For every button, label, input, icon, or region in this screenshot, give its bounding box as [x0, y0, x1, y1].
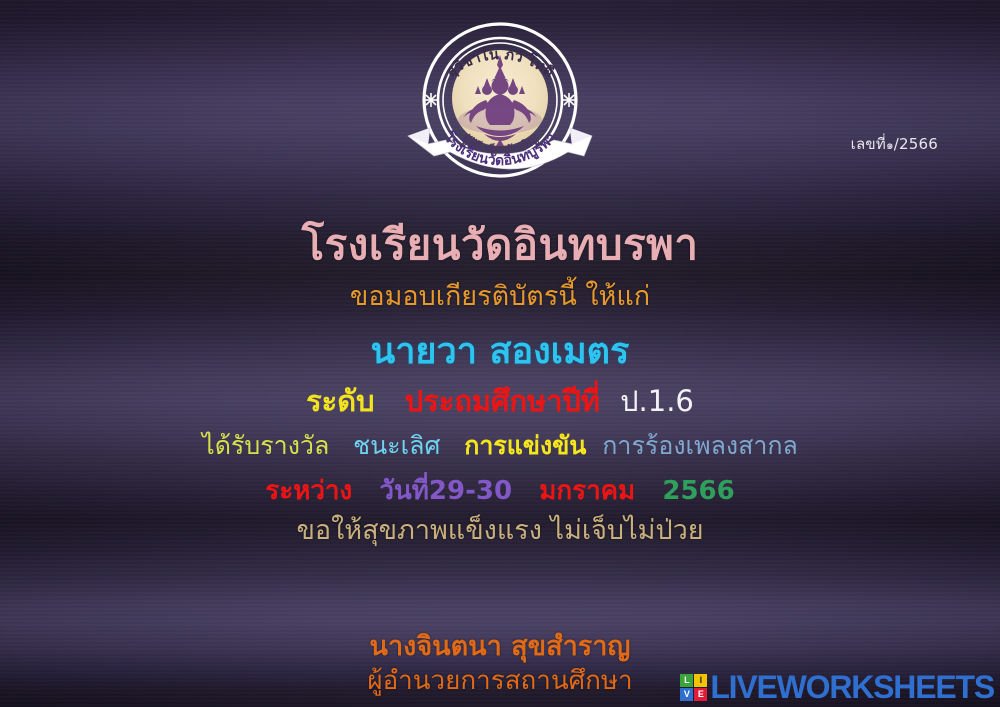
recipient-name: นายวา สองเมตร [0, 322, 1000, 379]
date-line: ระหว่าง วันที่29-30 มกราคม 2566 [0, 470, 1000, 511]
date-month: มกราคม [539, 470, 635, 511]
certificate-canvas: สุวิชาโน ภวํ โหติ ผู้รู้ดี เป็น ผู้เจริญ… [0, 0, 1000, 707]
date-year: 2566 [662, 476, 734, 506]
award-detail: การร้องเพลงสากล [602, 426, 798, 466]
date-days: วันที่29-30 [379, 470, 512, 511]
level-value: ประถมศึกษาปีที่ [405, 378, 600, 424]
logo-tile-i: I [694, 674, 707, 687]
wish-text: ขอให้สุขภาพแข็งแรง ไม่เจ็บไม่ป่วย [0, 508, 1000, 551]
award-rank: ชนะเลิศ [353, 426, 440, 466]
certificate-serial-number: เลขที่๑/2566 [851, 132, 938, 156]
award-label: ได้รับรางวัล [202, 426, 329, 466]
award-line: ได้รับรางวัล ชนะเลิศ การแข่งขัน การร้องเ… [0, 426, 1000, 466]
serial-prefix: เลขที่ [851, 135, 886, 153]
logo-tile-e: E [694, 688, 707, 701]
school-name-heading: โรงเรียนวัดอินทบรพา [0, 212, 1000, 278]
level-label: ระดับ [306, 378, 374, 424]
logo-tile-v: V [680, 688, 693, 701]
serial-suffix: /2566 [894, 135, 938, 153]
logo-tile-l: L [680, 674, 693, 687]
award-event: การแข่งขัน [464, 426, 586, 466]
level-class: ป.1.6 [620, 378, 694, 424]
level-line: ระดับ ประถมศึกษาปีที่ ป.1.6 [0, 378, 1000, 424]
liveworksheets-wordmark: LIVEWORKSHEETS [710, 671, 994, 703]
liveworksheets-logo-icon: L I V E [680, 674, 707, 701]
school-emblem: สุวิชาโน ภวํ โหติ ผู้รู้ดี เป็น ผู้เจริญ… [400, 8, 600, 198]
serial-thai-numeral: ๑ [886, 138, 894, 152]
present-to-text: ขอมอบเกียรติบัตรนี้ ให้แก่ [0, 274, 1000, 317]
liveworksheets-watermark: L I V E LIVEWORKSHEETS [680, 671, 994, 703]
date-label: ระหว่าง [265, 470, 352, 511]
